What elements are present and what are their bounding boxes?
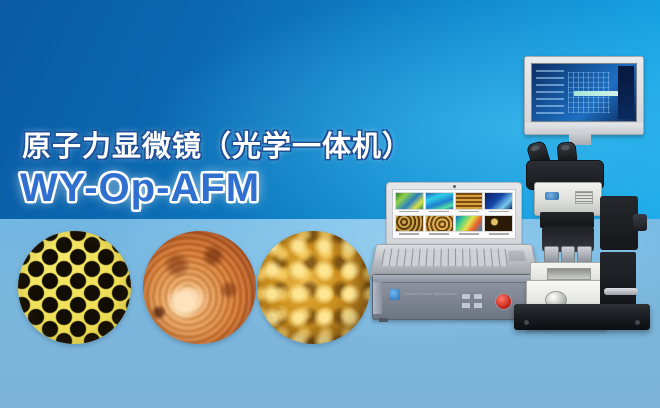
scan-thumbnail[interactable] — [395, 192, 424, 214]
scan-thumbnail-image — [455, 215, 484, 233]
optical-afm-microscope — [500, 56, 660, 330]
control-laptop-screen — [392, 189, 516, 239]
display-ui-sidebar — [618, 66, 634, 119]
scan-thumbnail-caption — [455, 210, 484, 214]
port-cap — [633, 214, 647, 231]
microscope-display — [524, 56, 644, 135]
port-icon[interactable] — [473, 302, 483, 309]
scan-thumbnail[interactable] — [455, 215, 484, 237]
afm-sample-image-1 — [18, 231, 131, 344]
product-title-cn: 原子力显微镜（光学一体机） — [22, 123, 412, 165]
manufacturer-logo-icon — [545, 192, 559, 200]
scan-thumbnail-image — [425, 215, 454, 233]
keyboard[interactable] — [381, 249, 508, 267]
scanner-slot — [547, 268, 591, 280]
stage-translation-rod[interactable] — [604, 288, 638, 295]
scan-thumbnail-image — [395, 215, 424, 233]
scan-thumbnail-caption — [425, 210, 454, 214]
controller-port-cluster[interactable] — [461, 293, 483, 309]
afm-sample-image-2 — [143, 231, 256, 344]
scan-thumbnail-image — [425, 192, 454, 210]
controller-left-rail — [373, 282, 382, 314]
port-icon[interactable] — [461, 293, 471, 300]
scan-thumbnail[interactable] — [455, 192, 484, 214]
scan-thumbnail-caption — [395, 210, 424, 214]
scan-thumbnail-caption — [455, 232, 484, 236]
circle-vignette — [143, 231, 256, 344]
scan-thumbnail-image — [395, 192, 424, 210]
port-icon[interactable] — [461, 302, 471, 309]
product-banner: 原子力显微镜（光学一体机） WY-Op-AFM — [0, 0, 660, 408]
scan-thumbnail-image — [455, 192, 484, 210]
camera-port-arm — [600, 196, 638, 250]
microscope-display-screen — [531, 63, 637, 122]
product-model-name: WY-Op-AFM — [20, 166, 260, 211]
controller-brand-text: Atomic Force Microscope — [405, 291, 457, 296]
controller-foot — [379, 318, 388, 322]
scan-thumbnail[interactable] — [395, 215, 424, 237]
manufacturer-logo-icon — [389, 289, 400, 300]
afm-sample-image-3 — [257, 231, 370, 344]
scan-thumbnail-caption — [395, 232, 424, 236]
granite-base — [514, 304, 650, 330]
scan-thumbnail-caption — [425, 232, 454, 236]
display-ui-panel — [536, 70, 564, 115]
circle-vignette — [257, 231, 370, 344]
illuminator-body — [534, 182, 602, 216]
vent-grille — [575, 191, 593, 204]
scan-thumbnail[interactable] — [425, 215, 454, 237]
base-foot — [524, 320, 529, 325]
base-foot — [635, 320, 640, 325]
port-icon[interactable] — [473, 293, 483, 300]
webcam-icon — [453, 185, 456, 188]
circle-vignette — [18, 231, 131, 344]
scan-thumbnail[interactable] — [425, 192, 454, 214]
